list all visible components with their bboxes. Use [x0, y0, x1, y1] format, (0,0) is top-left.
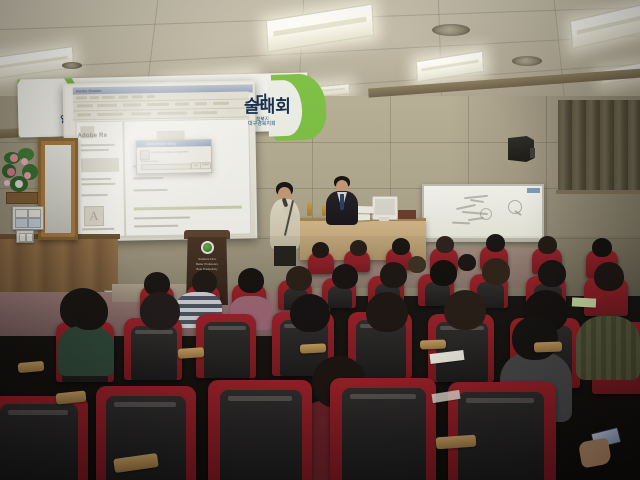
audience-head	[408, 256, 426, 273]
banner-title-fragment-2: 술대회	[244, 92, 291, 117]
audience-head	[538, 260, 566, 287]
audience-head	[430, 260, 457, 286]
whiteboard	[422, 184, 544, 242]
audience-head	[290, 294, 330, 332]
seat-back	[131, 326, 177, 380]
ceiling-vent-1	[432, 24, 470, 36]
audience-head	[594, 262, 624, 291]
adobe-reader-label: Adobe Re	[78, 133, 108, 140]
audience-head	[538, 236, 557, 254]
audience-head	[70, 292, 108, 330]
dialog-cancel-button[interactable]: Cancel	[200, 162, 211, 169]
audience-head	[392, 238, 410, 255]
seat-back	[0, 404, 78, 480]
alcove-lip	[556, 190, 640, 194]
audience-head	[436, 236, 454, 253]
lecture-hall-photo: 2 일시 술대회 대구경북지회 술대회 대구경북지회 Adobe Reader	[0, 0, 640, 480]
monitor-stand	[379, 217, 389, 221]
seat-back	[204, 322, 250, 378]
curtain-alcove	[558, 100, 640, 192]
audience-head	[444, 290, 486, 330]
whiteboard-corner-tab	[527, 188, 540, 193]
presenter-in-suit	[322, 176, 366, 226]
audience-head	[238, 268, 264, 293]
audience-head	[366, 292, 408, 332]
ceiling-speaker-dome	[62, 62, 82, 69]
presenter-2-necktie	[340, 194, 344, 210]
update-dialog[interactable]: Adobe Reader dialog Installing update co…	[136, 139, 213, 174]
audience-torso-green	[58, 326, 114, 376]
audience-head	[312, 242, 329, 258]
dialog-progress-bar	[141, 163, 191, 170]
dialog-body-text: Installing update component	[151, 149, 208, 154]
audience-head	[192, 270, 217, 294]
seat-armrest	[420, 340, 446, 350]
floral-shelf	[6, 192, 38, 204]
projection-screen: Adobe Reader	[65, 82, 256, 239]
ceiling-vent-2	[512, 56, 542, 66]
audience-head	[286, 266, 312, 291]
seat-back	[220, 390, 302, 480]
audience-torso-olive	[576, 316, 640, 380]
seat-back	[328, 286, 352, 308]
speaker-bracket	[530, 148, 535, 158]
audience-head	[512, 316, 558, 360]
seat-armrest	[300, 343, 326, 353]
wall-panel-glass	[45, 145, 71, 233]
audience-head	[482, 258, 510, 285]
audience-head	[486, 234, 505, 252]
audience-head	[458, 254, 476, 271]
wall-control-panel[interactable]	[12, 206, 44, 230]
adobe-pdf-logo-icon	[84, 206, 104, 226]
dialog-progress-label: Downloading...	[141, 159, 160, 163]
audience-head	[380, 262, 407, 288]
audience-head	[350, 240, 367, 256]
audience-head	[592, 238, 612, 257]
pdf-document-page	[123, 118, 251, 236]
attendee-notepad-3	[572, 297, 596, 307]
monitor-screen	[375, 199, 395, 215]
audience-head	[140, 292, 180, 330]
seat-armrest	[178, 347, 205, 359]
seat-armrest	[534, 342, 562, 353]
wall-panel-frame	[38, 138, 78, 240]
book-stack	[398, 210, 416, 219]
audience-head	[332, 264, 358, 289]
curtain	[558, 100, 640, 192]
banner-chapter-2: 대구경북지회	[248, 120, 276, 127]
seat-back	[342, 388, 426, 480]
